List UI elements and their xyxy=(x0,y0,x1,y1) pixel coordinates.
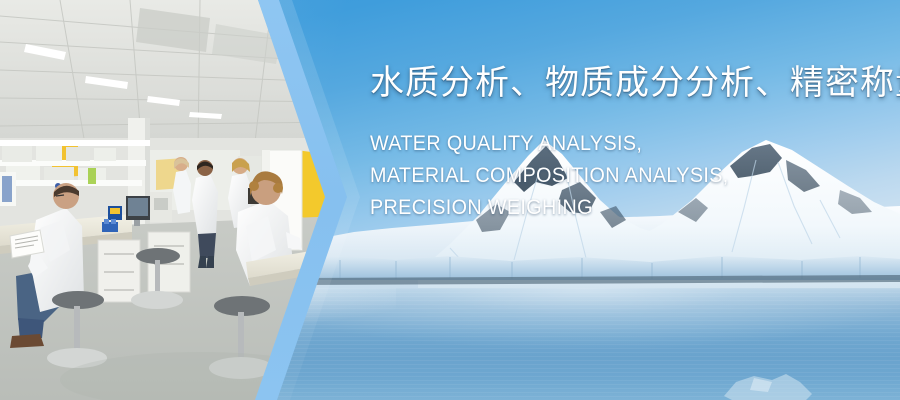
floating-ice-chunk-icon xyxy=(720,370,816,400)
subheading-line-1: WATER QUALITY ANALYSIS, xyxy=(370,128,859,160)
subheading-list: WATER QUALITY ANALYSIS, MATERIAL COMPOSI… xyxy=(370,128,890,224)
promo-banner: 水质分析、物质成分分析、精密称量 WATER QUALITY ANALYSIS,… xyxy=(0,0,900,400)
subheading-line-2: MATERIAL COMPOSITION ANALYSIS, xyxy=(370,160,859,192)
banner-copy: 水质分析、物质成分分析、精密称量 WATER QUALITY ANALYSIS,… xyxy=(370,64,890,224)
subheading-line-3: PRECISION WEIGHING xyxy=(370,192,859,224)
headline-chinese: 水质分析、物质成分分析、精密称量 xyxy=(370,64,890,102)
